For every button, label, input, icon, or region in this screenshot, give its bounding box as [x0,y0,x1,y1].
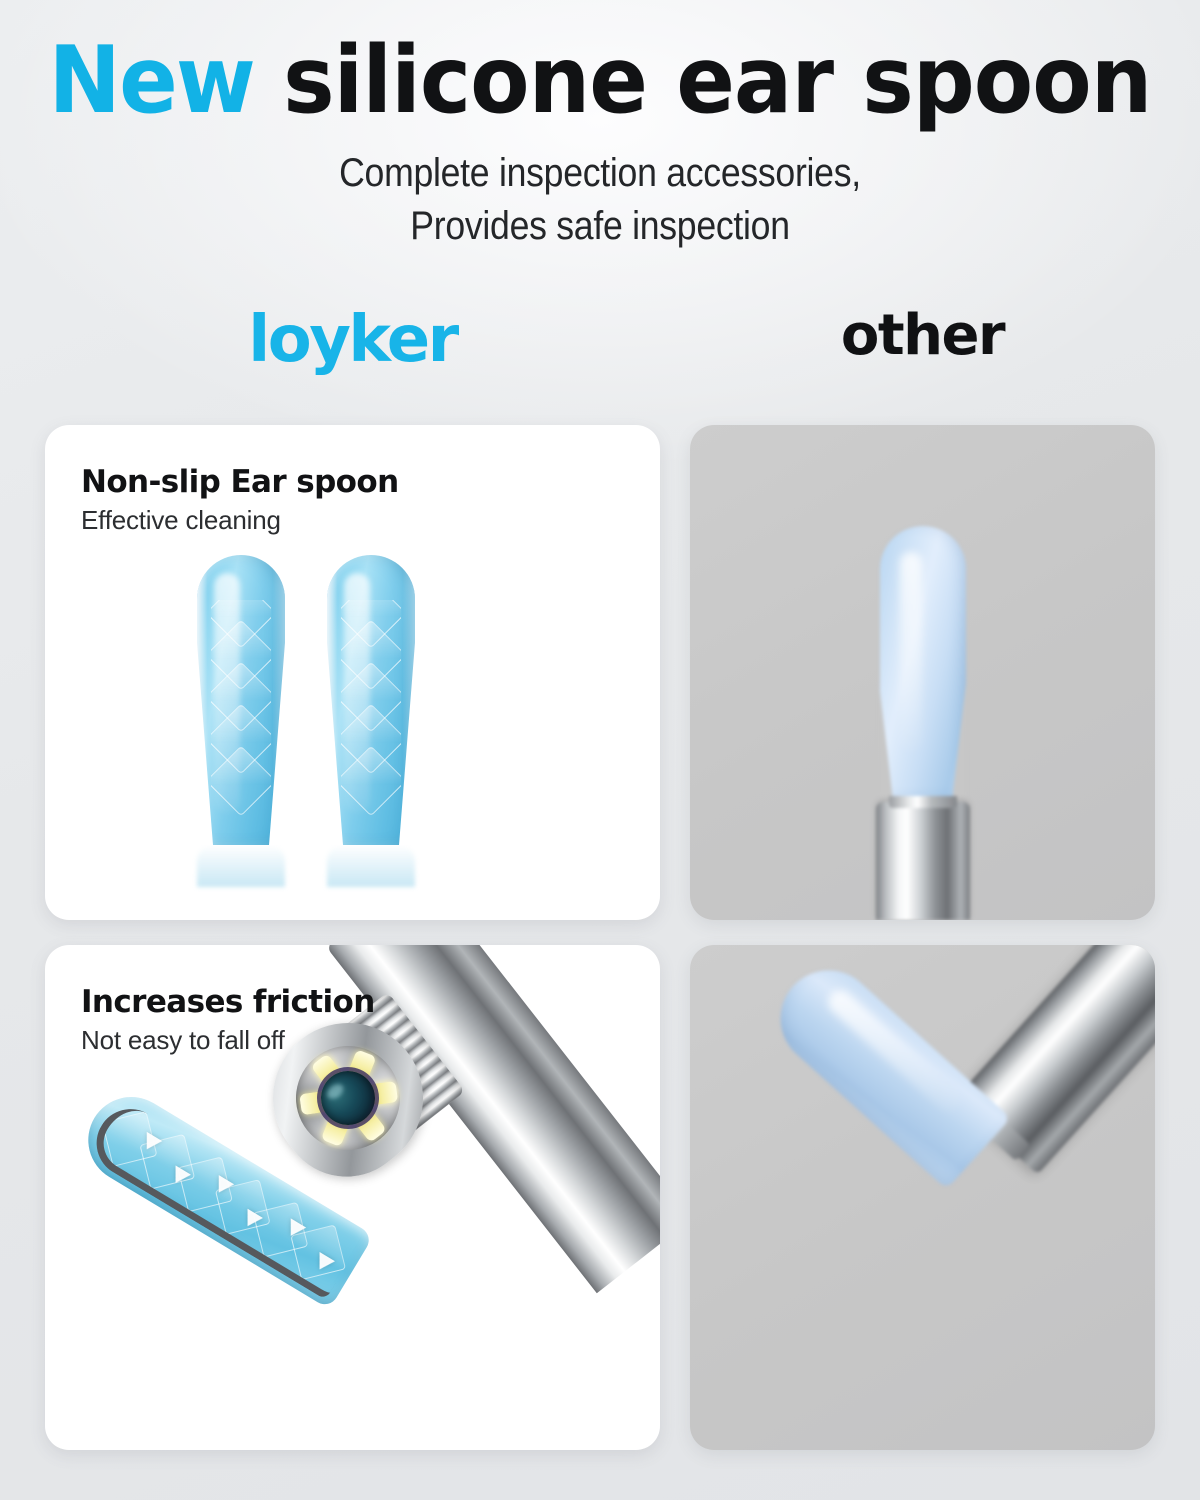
other-spoon-illustration [690,945,1155,1450]
tip-reflection-right [327,845,415,887]
subline-line-1: Complete inspection accessories, [66,147,1134,200]
card-subtitle-bottom-left: Not easy to fall off [81,1026,375,1055]
brand-logo-loyker: loyker [45,308,660,372]
tip-taper-right-edge [269,630,286,845]
card-heading-group-bottom-left: Increases friction Not easy to fall off [81,985,375,1055]
tip-diamond-texture-left [211,600,271,815]
other-tip-neck-right [953,646,967,796]
card-title-bottom-left: Increases friction [81,985,375,1019]
headline-rest: silicone ear spoon [283,26,1151,134]
card-title-top-left: Non-slip Ear spoon [81,465,399,499]
card-non-slip-ear-spoon: Non-slip Ear spoon Effective cleaning [45,425,660,920]
diamond-facet [211,746,271,815]
header: New silicone ear spoon Complete inspecti… [0,0,1200,253]
card-subtitle-top-left: Effective cleaning [81,506,399,535]
silicone-tip-right [327,555,415,845]
chrome-shaft [876,802,970,920]
other-tip-illustration [690,425,1155,920]
tip-taper-right-edge [399,630,416,845]
card-other-brand-spoon [690,945,1155,1450]
other-tip-gloss [900,552,922,752]
other-spoon-gloss [824,985,966,1117]
tip-diamond-texture-right [341,600,401,815]
page-headline: New silicone ear spoon [42,34,1158,127]
subline-line-2: Provides safe inspection [66,200,1134,253]
diamond-facet [341,746,401,815]
card-increases-friction: Increases friction Not easy to fall off [45,945,660,1450]
comparison-brand-row: loyker other [0,308,1200,404]
page-subline: Complete inspection accessories, Provide… [66,147,1134,253]
card-other-brand-tip [690,425,1155,920]
other-tip-neck-left [879,646,893,796]
brand-label-other: other [690,308,1155,364]
other-silicone-tip [880,526,966,796]
silicone-tip-left [197,555,285,845]
card-heading-group-top-left: Non-slip Ear spoon Effective cleaning [81,465,399,535]
other-smooth-spoon [761,951,1011,1190]
headline-accent-word: New [49,26,254,134]
tip-reflection-left [197,845,285,887]
